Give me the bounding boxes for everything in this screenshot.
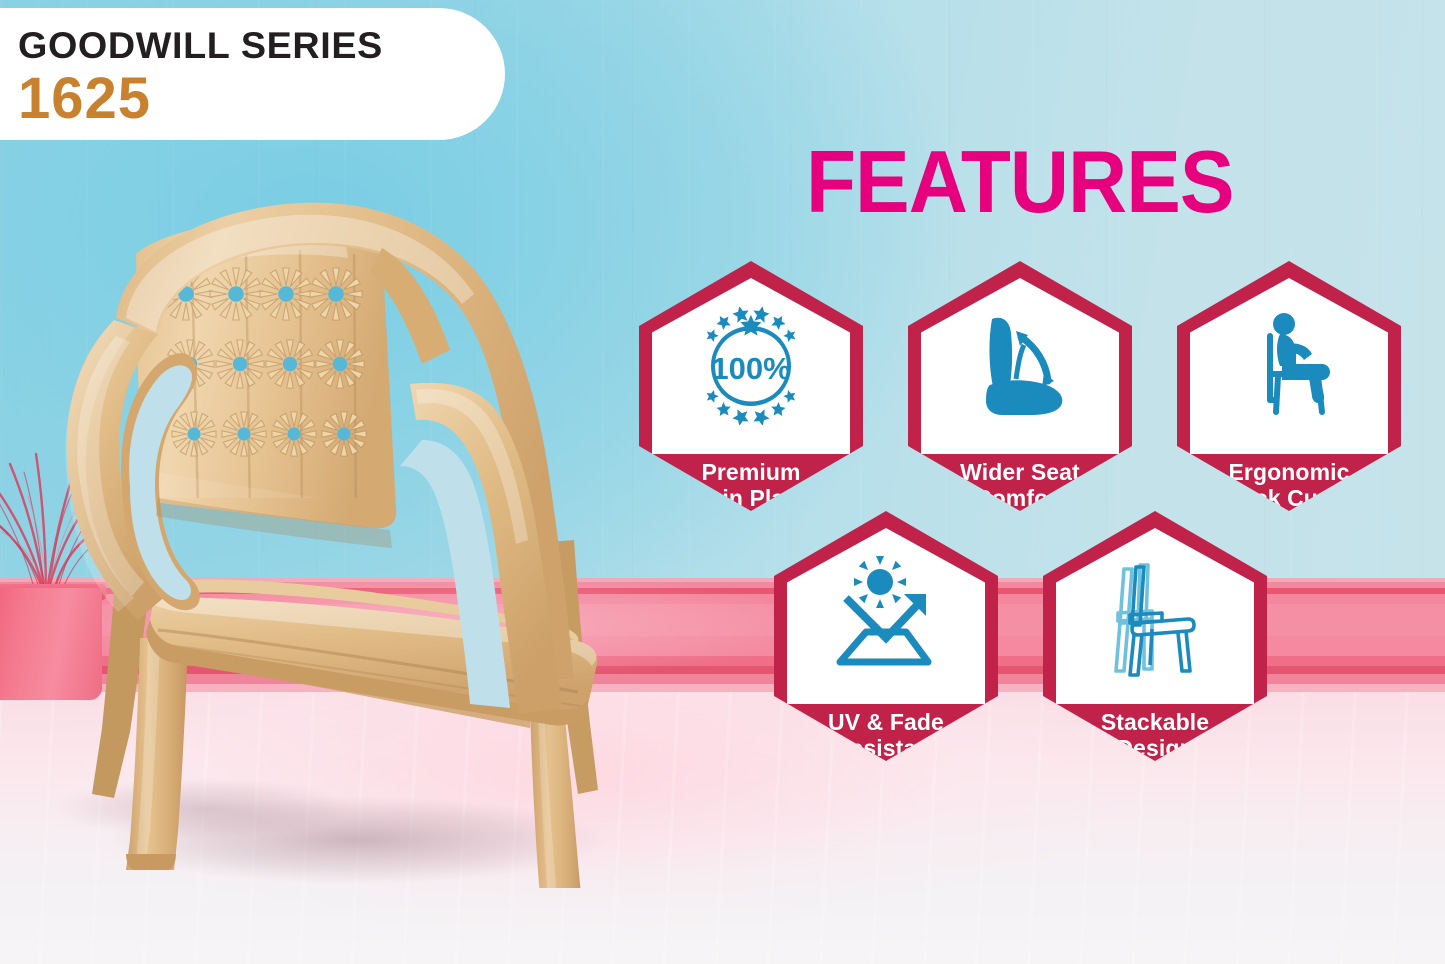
sun-deflect-shield-icon	[822, 556, 950, 676]
stacked-chairs-icon	[1100, 553, 1210, 679]
product-title-badge: GOODWILL SERIES 1625	[0, 8, 505, 140]
brand-series-label: GOODWILL SERIES	[18, 24, 515, 68]
features-heading: FEATURES	[806, 136, 1234, 228]
plastic-chair-product-image	[18, 168, 630, 888]
badge-icon-area	[1056, 528, 1254, 704]
badge-icon-area	[921, 278, 1119, 454]
badge-icon-area	[787, 528, 985, 704]
seated-person-posture-icon	[1226, 304, 1352, 428]
reclining-seat-icon	[958, 307, 1082, 425]
badge-icon-area	[1190, 278, 1388, 454]
seal-percent-text: 100%	[711, 351, 790, 386]
hundred-percent-seal-icon: 100%	[692, 307, 810, 425]
model-number: 1625	[18, 69, 505, 129]
badge-icon-area: 100%	[652, 278, 850, 454]
